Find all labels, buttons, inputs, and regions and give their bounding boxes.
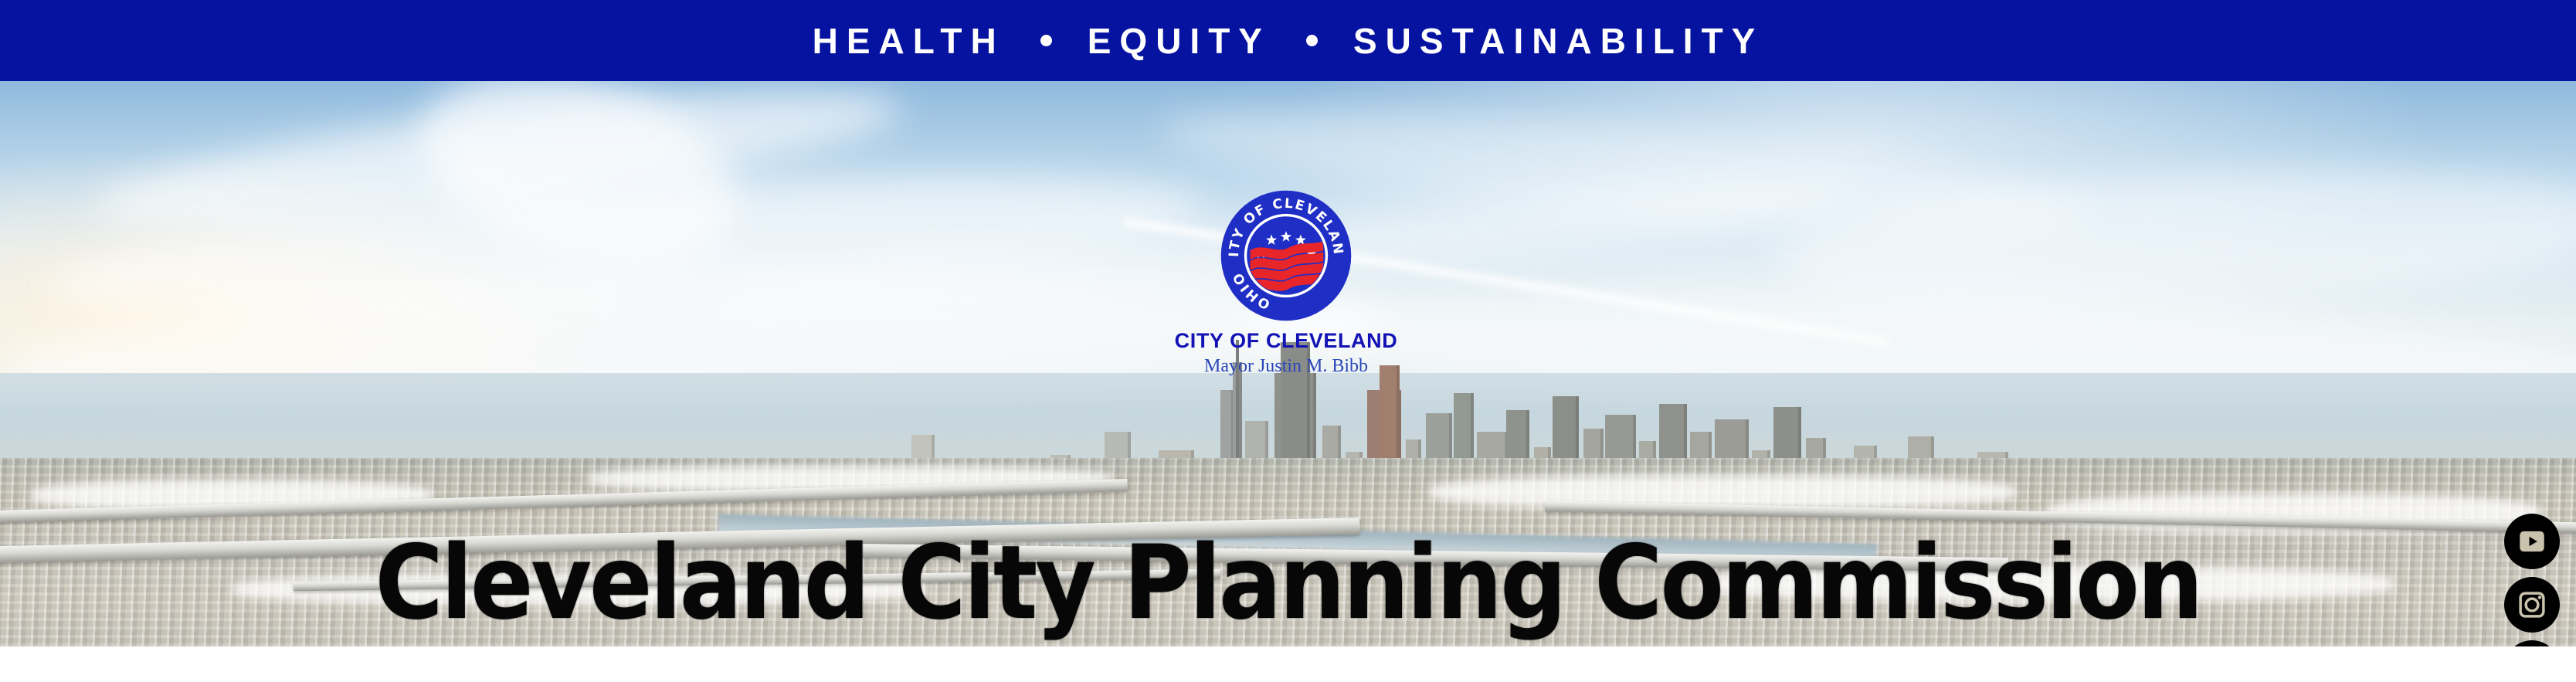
slogan-word-health: HEALTH	[813, 23, 1005, 59]
page-title: Cleveland City Planning Commission	[0, 531, 2576, 633]
social-media-rail	[2502, 514, 2562, 646]
social-link-facebook[interactable]	[2504, 640, 2560, 646]
slogan-word-equity: EQUITY	[1088, 23, 1271, 59]
seal-wordmark-title: CITY OF CLEVELAND	[1085, 330, 1487, 351]
city-of-cleveland-seal-icon: CITY OF CLEVELAND OHIO	[1220, 189, 1352, 322]
youtube-icon	[2516, 525, 2548, 558]
hero-photo: CITY OF CLEVELAND OHIO	[0, 81, 2576, 646]
social-link-youtube[interactable]	[2504, 514, 2560, 569]
slogan-row: HEALTH EQUITY SUSTAINABILITY	[813, 23, 1764, 59]
seal-wordmark-subtitle: Mayor Justin M. Bibb	[1085, 357, 1487, 376]
top-slogan-banner: HEALTH EQUITY SUSTAINABILITY	[0, 0, 2576, 81]
city-of-cleveland-lockup: CITY OF CLEVELAND OHIO	[1085, 189, 1487, 377]
bullet-dot-icon-2	[1306, 35, 1318, 46]
instagram-icon	[2516, 589, 2548, 621]
slogan-word-sustainability: SUSTAINABILITY	[1353, 23, 1763, 59]
planning-commission-banner-page: HEALTH EQUITY SUSTAINABILITY	[0, 0, 2576, 682]
social-link-instagram[interactable]	[2504, 577, 2560, 633]
bottom-white-strip	[0, 646, 2576, 682]
bullet-dot-icon-1	[1040, 35, 1052, 46]
